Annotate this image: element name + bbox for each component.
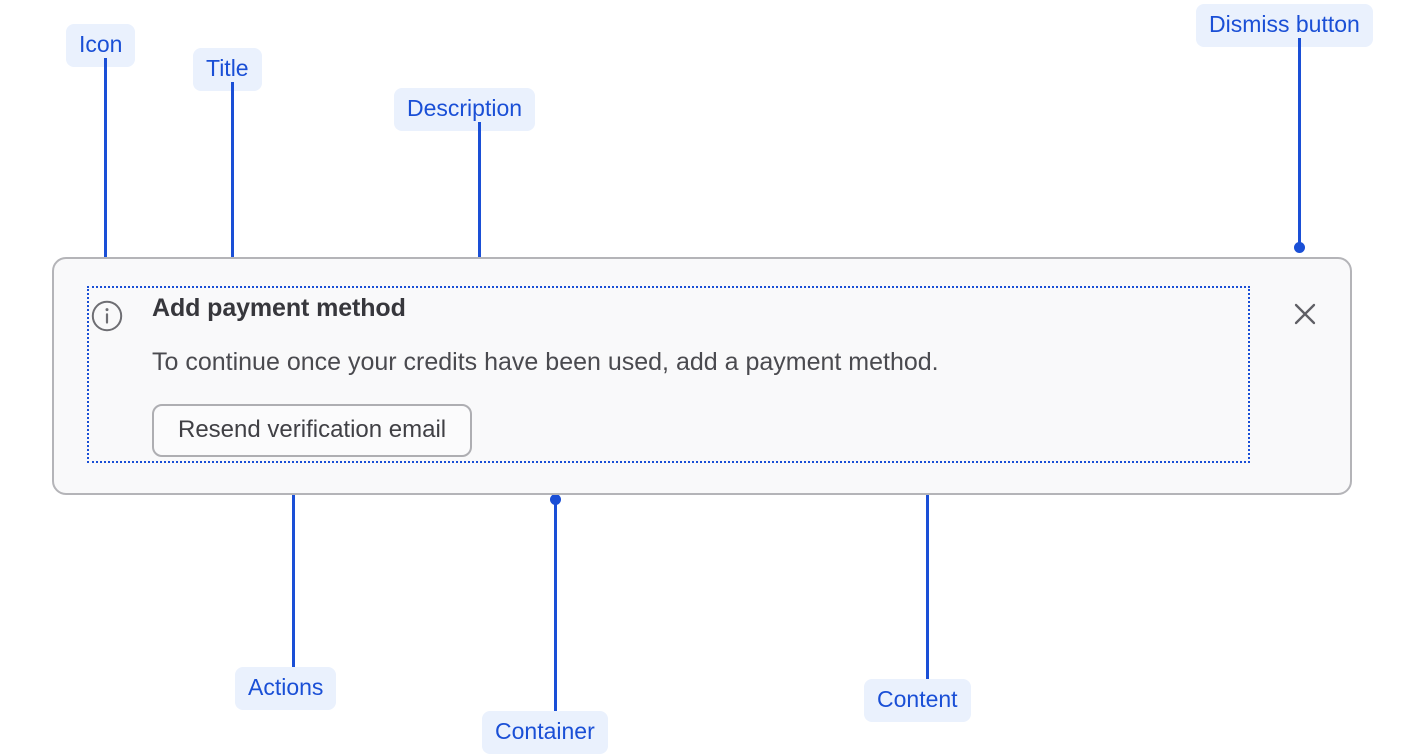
annotation-label-icon: Icon xyxy=(66,24,135,67)
annotation-label-title: Title xyxy=(193,48,262,91)
alert-body: Add payment method To continue once your… xyxy=(123,288,1248,457)
annotation-connector-icon xyxy=(104,58,107,272)
alert-container: Add payment method To continue once your… xyxy=(52,257,1352,495)
resend-verification-email-button[interactable]: Resend verification email xyxy=(152,404,472,457)
annotation-connector-dismiss xyxy=(1298,38,1301,250)
annotation-label-actions: Actions xyxy=(235,667,336,710)
alert-description: To continue once your credits have been … xyxy=(152,346,1248,379)
annotation-connector-container xyxy=(554,500,557,711)
close-icon xyxy=(1291,300,1319,328)
annotation-label-dismiss: Dismiss button xyxy=(1196,4,1373,47)
annotation-dot-dismiss xyxy=(1294,242,1305,253)
annotation-label-content: Content xyxy=(864,679,971,722)
annotation-connector-title xyxy=(231,82,234,284)
alert-actions: Resend verification email xyxy=(152,404,1248,457)
alert-content: Add payment method To continue once your… xyxy=(87,286,1250,463)
annotation-dot-container xyxy=(550,494,561,505)
dismiss-button[interactable] xyxy=(1285,294,1325,334)
alert-title: Add payment method xyxy=(152,292,1248,325)
info-circle-icon xyxy=(91,300,123,332)
annotation-label-description: Description xyxy=(394,88,535,131)
annotation-connector-content xyxy=(926,467,929,679)
